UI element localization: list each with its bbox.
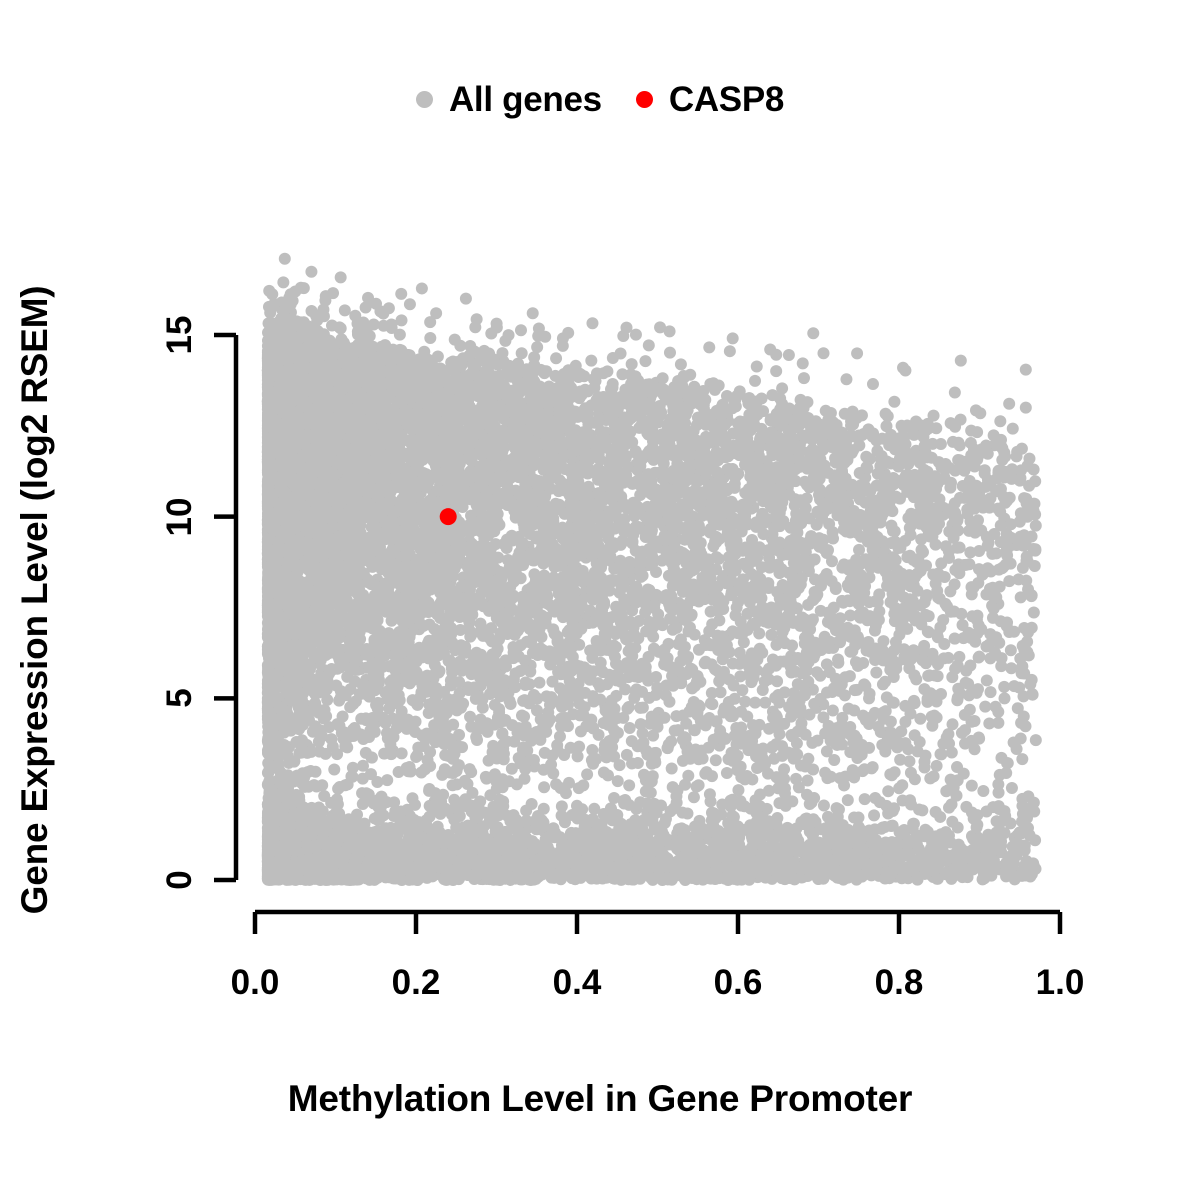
x-axis-title: Methylation Level in Gene Promoter [0,1078,1200,1120]
y-axis-title-container: Gene Expression Level (log2 RSEM) [0,0,70,1200]
scatter-plot-figure: All genes CASP8 0.00.20.40.60.81.0 05101… [0,0,1200,1200]
x-axis-tick-label: 0.0 [231,965,280,1000]
y-axis-tick-label: 5 [158,668,202,728]
x-axis-tick-label: 0.8 [875,965,924,1000]
scatter-points-casp8 [440,508,457,525]
x-axis-tick-label: 0.4 [553,965,602,1000]
x-axis-tick-label: 1.0 [1036,965,1085,1000]
y-axis-tick-label: 15 [158,305,202,365]
y-axis-tick-label: 0 [158,850,202,910]
x-axis-tick-label: 0.6 [714,965,763,1000]
y-axis-tick-label: 10 [158,487,202,547]
scatter-points-all-genes [262,253,1042,886]
x-axis-tick-label: 0.2 [392,965,441,1000]
casp8-data-point [440,508,457,525]
y-axis-title: Gene Expression Level (log2 RSEM) [14,286,56,915]
plot-canvas [0,0,1200,1200]
